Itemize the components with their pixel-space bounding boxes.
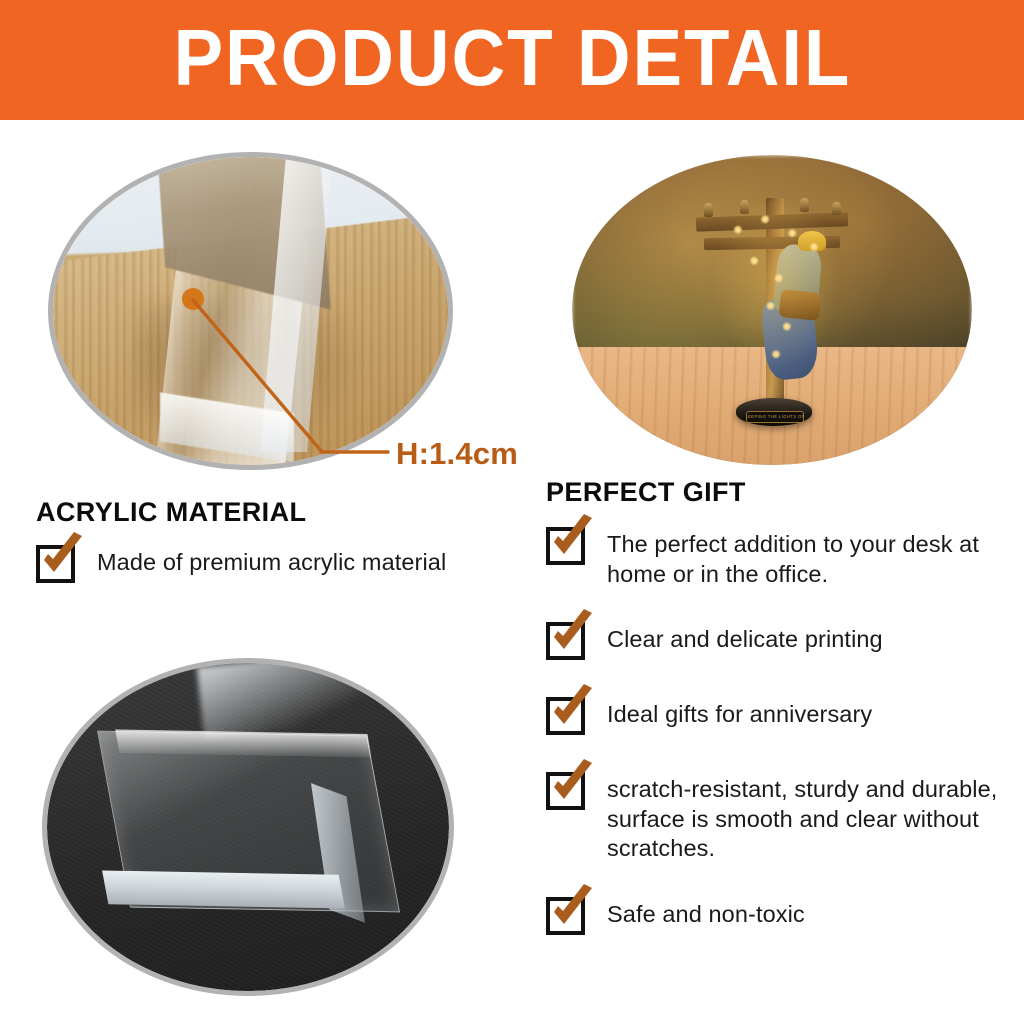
list-item: Made of premium acrylic material (36, 543, 506, 587)
check-mark-icon (544, 607, 600, 663)
check-mark-icon (544, 682, 600, 738)
checkbox-checked-icon[interactable] (546, 620, 591, 664)
acrylic-block-top-bevel (116, 729, 373, 757)
photo-acrylic-edge (48, 152, 453, 470)
figurine-base-label: KEEPING THE LIGHTS ON (746, 411, 804, 423)
photo-acrylic-edge-content (53, 157, 448, 465)
feature-list-perfect-gift: The perfect addition to your desk at hom… (546, 525, 1006, 970)
checkbox-checked-icon[interactable] (546, 770, 591, 814)
check-mark-icon (544, 757, 600, 813)
measurement-label: H:1.4cm (396, 436, 518, 472)
section-title-perfect-gift: PERFECT GIFT (546, 477, 746, 508)
acrylic-block-front-edge (102, 870, 345, 908)
checkbox-checked-icon[interactable] (546, 695, 591, 739)
list-item-label: Safe and non-toxic (607, 895, 805, 930)
check-mark-icon (544, 512, 600, 568)
photo-product-content: KEEPING THE LIGHTS ON (572, 155, 972, 465)
list-item: The perfect addition to your desk at hom… (546, 525, 1006, 589)
list-item-label: Ideal gifts for anniversary (607, 695, 872, 730)
photo-acrylic-block-content (47, 663, 449, 991)
product-detail-infographic: PRODUCT DETAIL (0, 0, 1024, 1024)
check-mark-icon (34, 530, 90, 586)
photo-acrylic-block (42, 658, 454, 996)
checkbox-checked-icon[interactable] (546, 895, 591, 939)
measurement-dot (182, 288, 204, 310)
list-item: scratch-resistant, sturdy and durable, s… (546, 770, 1006, 864)
page-title: PRODUCT DETAIL (173, 18, 851, 98)
header-banner: PRODUCT DETAIL (0, 0, 1024, 120)
string-lights (708, 202, 844, 376)
checkbox-checked-icon[interactable] (36, 543, 81, 587)
list-item-label: scratch-resistant, sturdy and durable, s… (607, 770, 1006, 864)
section-title-acrylic-material: ACRYLIC MATERIAL (36, 497, 306, 528)
list-item-label: Made of premium acrylic material (97, 543, 446, 578)
list-item: Safe and non-toxic (546, 895, 1006, 939)
photo-product-figurine: KEEPING THE LIGHTS ON (572, 155, 972, 465)
list-item-label: The perfect addition to your desk at hom… (607, 525, 1006, 589)
checkbox-checked-icon[interactable] (546, 525, 591, 569)
list-item: Clear and delicate printing (546, 620, 1006, 664)
list-item: Ideal gifts for anniversary (546, 695, 1006, 739)
check-mark-icon (544, 882, 600, 938)
feature-list-acrylic-material: Made of premium acrylic material (36, 543, 506, 615)
list-item-label: Clear and delicate printing (607, 620, 883, 655)
